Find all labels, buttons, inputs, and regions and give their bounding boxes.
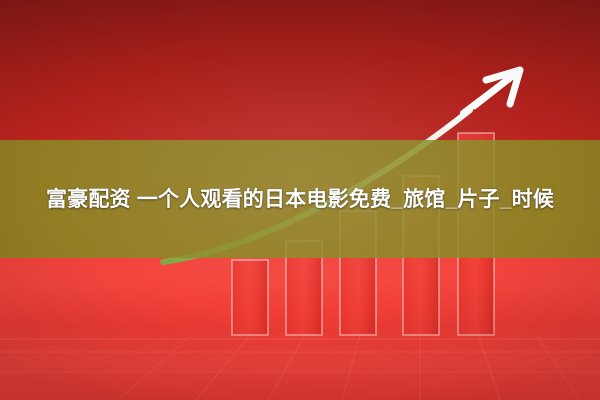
bar-1 [232, 260, 268, 335]
page-title: 富豪配资 一个人观看的日本电影免费_旅馆_片子_时候 [46, 183, 554, 216]
headline-container: 富豪配资 一个人观看的日本电影免费_旅馆_片子_时候 [0, 140, 600, 258]
banner-image: 富豪配资 一个人观看的日本电影免费_旅馆_片子_时候 [0, 0, 600, 400]
floor-grid [0, 335, 600, 400]
